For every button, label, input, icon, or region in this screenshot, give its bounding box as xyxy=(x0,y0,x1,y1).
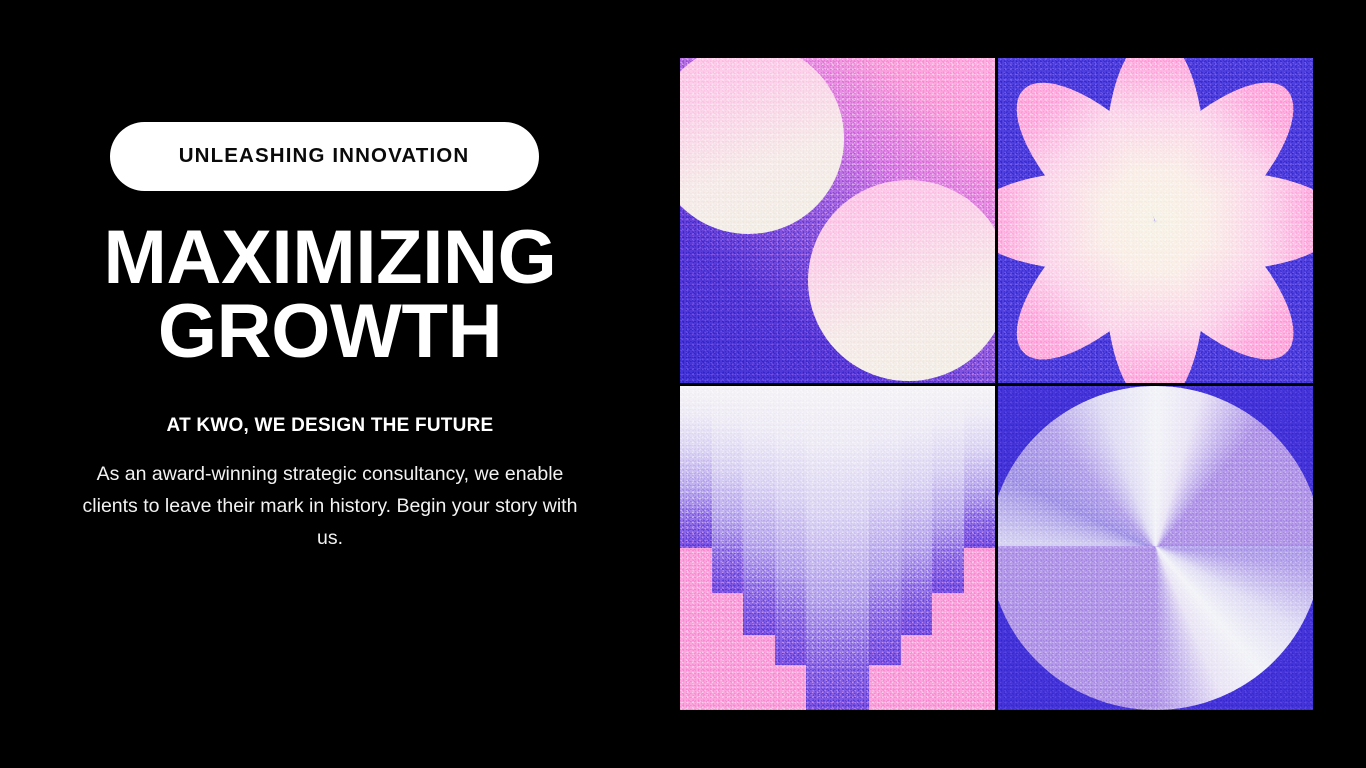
bar-4 xyxy=(775,386,807,665)
page-title-line-1: MAXIMIZING xyxy=(60,221,600,295)
dome-top-fill xyxy=(998,386,1313,550)
dome-shape-top xyxy=(998,386,1313,550)
bar-group xyxy=(680,386,995,711)
artwork-tile-stepped-bars[interactable] xyxy=(680,386,995,711)
bar-10 xyxy=(964,386,996,548)
artwork-tile-mirrored-domes[interactable] xyxy=(998,386,1313,711)
bar-5 xyxy=(806,386,838,711)
page-title-line-2: GROWTH xyxy=(60,295,600,369)
circle-shape-1 xyxy=(680,58,844,234)
body-paragraph: As an award-winning strategic consultanc… xyxy=(80,459,580,554)
page-title: MAXIMIZING GROWTH xyxy=(60,221,600,368)
text-column: UNLEASHING INNOVATION MAXIMIZING GROWTH … xyxy=(0,0,660,768)
slide-root: UNLEASHING INNOVATION MAXIMIZING GROWTH … xyxy=(0,0,1366,768)
dome-bottom-fill xyxy=(998,546,1313,710)
bar-1 xyxy=(680,386,712,548)
bar-2 xyxy=(712,386,744,594)
bar-3 xyxy=(743,386,775,636)
bar-7 xyxy=(869,386,901,665)
circle-shape-2 xyxy=(808,180,995,382)
artwork-grid xyxy=(680,58,1313,710)
dome-shape-bottom xyxy=(998,546,1313,710)
eyebrow-badge[interactable]: UNLEASHING INNOVATION xyxy=(110,122,539,191)
bar-6 xyxy=(838,386,870,711)
artwork-tile-overlapping-circles[interactable] xyxy=(680,58,995,383)
bar-8 xyxy=(901,386,933,636)
flower-shape xyxy=(1156,220,1157,221)
artwork-tile-eight-petal-flower[interactable] xyxy=(998,58,1313,383)
bar-9 xyxy=(932,386,964,594)
subheading: AT KWO, WE DESIGN THE FUTURE xyxy=(167,415,494,437)
eyebrow-badge-label: UNLEASHING INNOVATION xyxy=(179,146,470,167)
